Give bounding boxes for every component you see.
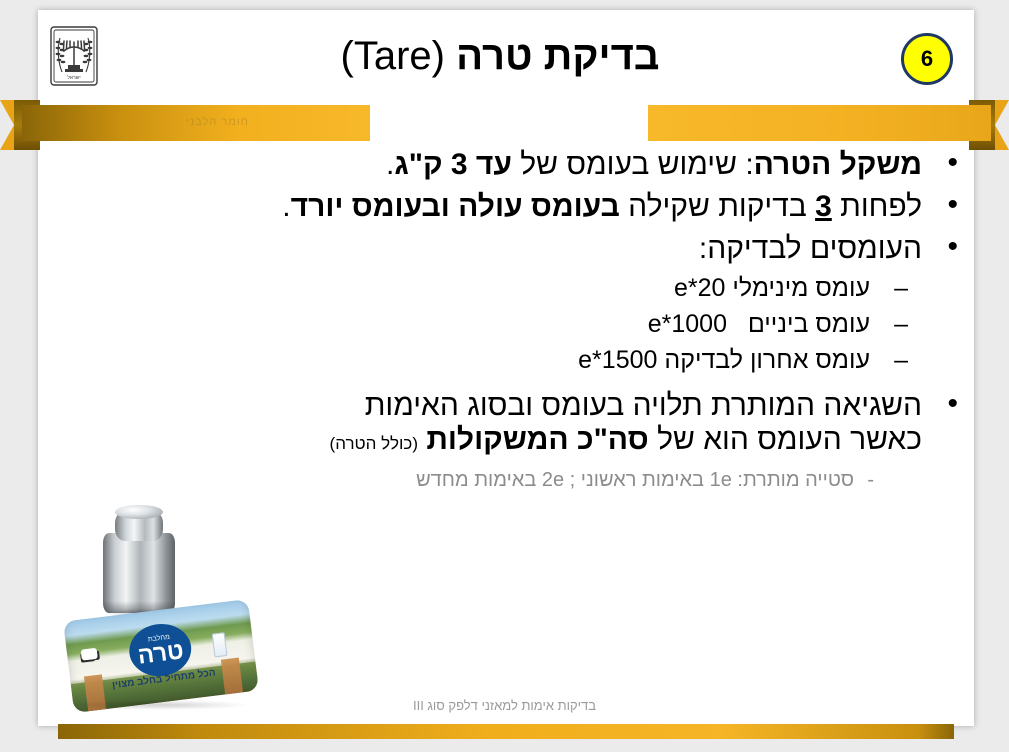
bullet-permitted-error-line2: כאשר העומס הוא של סה"כ המשקולות (כולל הט… bbox=[50, 423, 922, 457]
bullet-permitted-error-line1: השגיאה המותרת תלויה בעומס ובסוג האימות bbox=[50, 389, 922, 423]
calibration-weight-body bbox=[103, 533, 175, 613]
sub-bullet-final-load: עומס אחרון לבדיקה e*1500 bbox=[50, 348, 966, 373]
bullet-permitted-error-paren: (כולל הטרה) bbox=[330, 434, 418, 453]
bullet-permitted-error-line2-strong: סה"כ המשקולות bbox=[426, 423, 648, 456]
sub-bullet-min-load: עומס מינימלי e*20 bbox=[50, 276, 966, 301]
cow-icon bbox=[81, 648, 98, 661]
sub-bullet-final-load-label: עומס אחרון לבדיקה bbox=[664, 346, 870, 374]
sub-bullet-mid-load-value: e*1000 bbox=[648, 310, 727, 338]
slide-title-hebrew: בדיקת טרה bbox=[456, 34, 659, 78]
bullet-minimum-tests-pre: לפחות bbox=[832, 190, 922, 223]
bullet-test-loads-heading: העומסים לבדיקה: bbox=[50, 234, 966, 264]
slide-number-value: 6 bbox=[921, 46, 933, 72]
sub-bullet-final-load-value: e*1500 bbox=[578, 346, 657, 374]
ribbon-watermark-text: חומר הלבני bbox=[186, 116, 249, 128]
slide-title: בדיקת טרה (Tare) bbox=[120, 34, 880, 79]
milk-carton-icon bbox=[212, 632, 228, 657]
bullet-minimum-tests-mid: בדיקות שקילה bbox=[620, 190, 815, 223]
tolerance-note: סטייה מותרת: 1e באימות ראשוני ; 2e באימו… bbox=[50, 469, 966, 492]
bullet-minimum-tests-count: 3 bbox=[815, 190, 832, 223]
footer-gold-bar bbox=[58, 724, 954, 739]
ribbon-segment-right bbox=[648, 105, 991, 141]
sub-bullet-mid-load: עומס ביניים e*1000 bbox=[50, 312, 966, 337]
bullet-minimum-tests-strong: בעומס עולה ובעומס יורד bbox=[291, 190, 620, 223]
bullet-tare-weight-lead: משקל הטרה bbox=[754, 148, 922, 181]
sub-bullet-min-load-label: עומס מינימלי bbox=[732, 274, 870, 302]
calibration-weight-top bbox=[115, 505, 163, 519]
svg-text:ישראל: ישראל bbox=[67, 74, 80, 81]
bullet-tare-weight-strong: עד 3 ק"ג bbox=[394, 148, 512, 181]
bullet-permitted-error-line2-pre: כאשר העומס הוא של bbox=[649, 423, 922, 456]
bullet-tare-weight: משקל הטרה: שימוש בעומס של עד 3 ק"ג. bbox=[50, 150, 966, 180]
sub-bullet-min-load-value: e*20 bbox=[674, 274, 725, 302]
bullet-permitted-error: השגיאה המותרת תלויה בעומס ובסוג האימות כ… bbox=[50, 389, 966, 456]
presentation-slide: ישראל בדיקת טרה (Tare) 6 חומר הלבני משקל… bbox=[0, 0, 1009, 752]
tara-brand-large: טרה bbox=[136, 639, 184, 668]
bullet-minimum-tests: לפחות 3 בדיקות שקילה בעומס עולה ובעומס י… bbox=[50, 192, 966, 222]
slide-title-latin: (Tare) bbox=[341, 34, 445, 78]
slide-number-badge: 6 bbox=[901, 33, 953, 85]
slide-body: משקל הטרה: שימוש בעומס של עד 3 ק"ג. לפחו… bbox=[50, 150, 966, 492]
calibration-weight-image bbox=[103, 505, 175, 613]
bullet-minimum-tests-tail: . bbox=[282, 190, 290, 223]
footer-text: בדיקות אימות למאזני דלפק סוג III bbox=[0, 698, 1009, 713]
sub-bullet-mid-load-label: עומס ביניים bbox=[748, 310, 870, 338]
gold-ribbon-banner bbox=[0, 100, 1009, 150]
israel-state-emblem-icon: ישראל bbox=[50, 26, 98, 88]
bullet-tare-weight-mid: : שימוש בעומס של bbox=[512, 148, 754, 181]
